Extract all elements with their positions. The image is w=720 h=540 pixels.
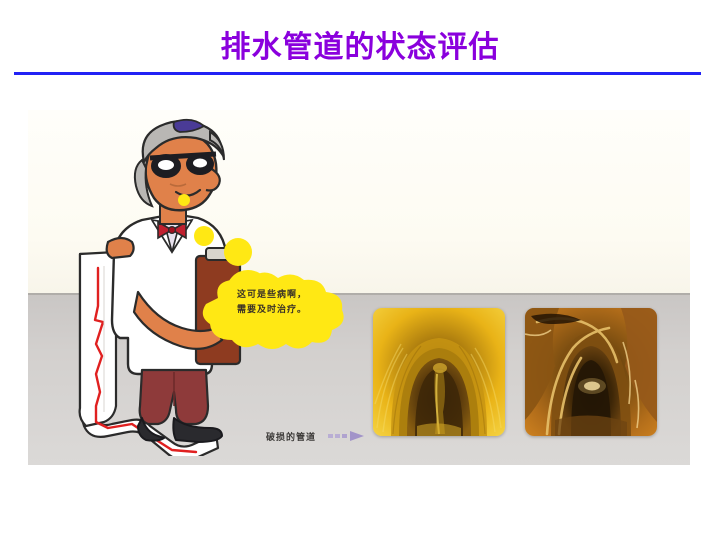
slide-root: 排水管道的状态评估 （1）功能性问题：影响排水通畅的病害 （2）结构性问题：影响…: [0, 0, 720, 540]
thought-dot-large: [224, 238, 252, 266]
thought-dot-small: [178, 194, 190, 206]
illustration-composite: 这可是些病啊， 需要及时治疗。 破损的管道: [28, 110, 690, 465]
title-divider: [14, 72, 701, 75]
thought-dot-medium: [194, 226, 214, 246]
thought-bubble-line-2: 需要及时治疗。: [196, 303, 348, 318]
photo-caption-label: 破损的管道: [266, 430, 316, 443]
thought-bubble-line-1: 这可是些病啊，: [196, 288, 348, 303]
page-title: 排水管道的状态评估: [0, 22, 720, 66]
pipe-interior-photo-1: [373, 308, 505, 436]
pipe-interior-photo-2: [525, 308, 657, 436]
thought-bubble-text: 这可是些病啊， 需要及时治疗。: [196, 288, 348, 318]
caption-arrow-icon: [328, 428, 380, 444]
